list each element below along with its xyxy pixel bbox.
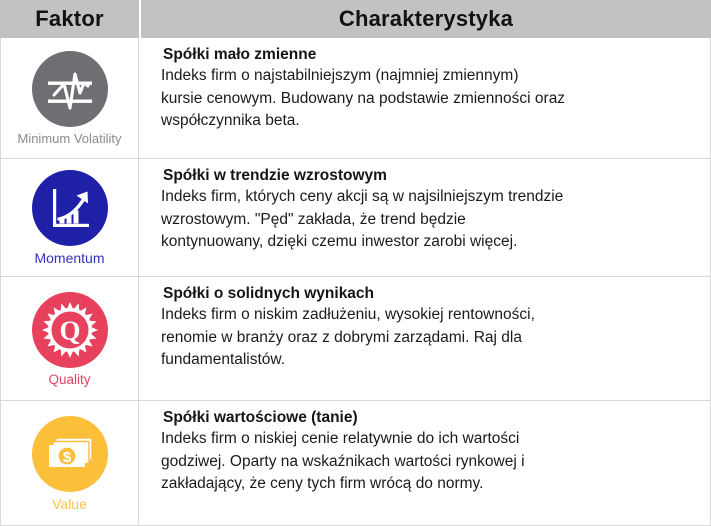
factor-label: Quality [48, 373, 90, 388]
svg-text:$: $ [62, 449, 71, 466]
factor-label: Value [52, 497, 87, 512]
growth-arrow-icon [32, 170, 108, 246]
table-row: Momentum Spółki w trendzie wzrostowym In… [1, 158, 710, 276]
factor-cell: Q Quality [1, 277, 139, 400]
characteristic-title: Spółki w trendzie wzrostowym [163, 166, 696, 185]
svg-text:Q: Q [59, 315, 80, 345]
characteristic-cell: Spółki o solidnych wynikach Indeks firm … [139, 277, 710, 400]
description-line: renomie w branży oraz z dobrymi zarządam… [161, 327, 696, 349]
description-line: Indeks firm o niskim zadłużeniu, wysokie… [161, 304, 696, 326]
description-line: fundamentalistów. [161, 349, 696, 371]
factor-label: Minimum Volatility [17, 132, 121, 146]
table-header-row: Faktor Charakterystyka [0, 0, 711, 38]
quality-seal-icon: Q [32, 292, 108, 368]
description-line: wzrostowym. "Pęd" zakłada, że trend będz… [161, 209, 696, 231]
characteristic-cell: Spółki wartościowe (tanie) Indeks firm o… [139, 401, 710, 525]
description-line: kontynuowany, dzięki czemu inwestor zaro… [161, 231, 696, 253]
characteristic-cell: Spółki w trendzie wzrostowym Indeks firm… [139, 159, 710, 276]
table-body: Minimum Volatility Spółki mało zmienne I… [0, 38, 711, 526]
factor-cell: Momentum [1, 159, 139, 276]
characteristic-description: Indeks firm o niskim zadłużeniu, wysokie… [153, 304, 696, 371]
description-line: godziwej. Oparty na wskaźnikach wartości… [161, 451, 696, 473]
description-line: kursie cenowym. Budowany na podstawie zm… [161, 88, 696, 110]
factor-label: Momentum [34, 251, 104, 266]
characteristic-title: Spółki wartościowe (tanie) [163, 408, 696, 427]
characteristic-description: Indeks firm o niskiej cenie relatywnie d… [153, 428, 696, 495]
column-header-characteristic: Charakterystyka [141, 0, 711, 38]
characteristic-description: Indeks firm, których ceny akcji są w naj… [153, 186, 696, 253]
factor-cell: Minimum Volatility [1, 38, 139, 158]
banknotes-dollar-icon: $ [32, 416, 108, 492]
description-line: zakładający, że ceny tych firm wrócą do … [161, 473, 696, 495]
factor-table: Faktor Charakterystyka Minimum Volati [0, 0, 711, 526]
table-row: Q Quality Spółki o solidnych wynikach In… [1, 276, 710, 400]
column-header-factor-label: Faktor [35, 8, 103, 30]
characteristic-cell: Spółki mało zmienne Indeks firm o najsta… [139, 38, 710, 158]
table-row: Minimum Volatility Spółki mało zmienne I… [1, 38, 710, 158]
description-line: współczynnika beta. [161, 110, 696, 132]
characteristic-title: Spółki mało zmienne [163, 45, 696, 64]
description-line: Indeks firm o niskiej cenie relatywnie d… [161, 428, 696, 450]
column-header-factor: Faktor [0, 0, 139, 38]
characteristic-description: Indeks firm o najstabilniejszym (najmnie… [153, 65, 696, 132]
column-header-characteristic-label: Charakterystyka [339, 8, 513, 30]
volatility-chart-icon [32, 51, 108, 127]
description-line: Indeks firm o najstabilniejszym (najmnie… [161, 65, 696, 87]
table-row: $ Value Spółki wartościowe (tanie) Indek… [1, 400, 710, 525]
factor-cell: $ Value [1, 401, 139, 525]
characteristic-title: Spółki o solidnych wynikach [163, 284, 696, 303]
description-line: Indeks firm, których ceny akcji są w naj… [161, 186, 696, 208]
